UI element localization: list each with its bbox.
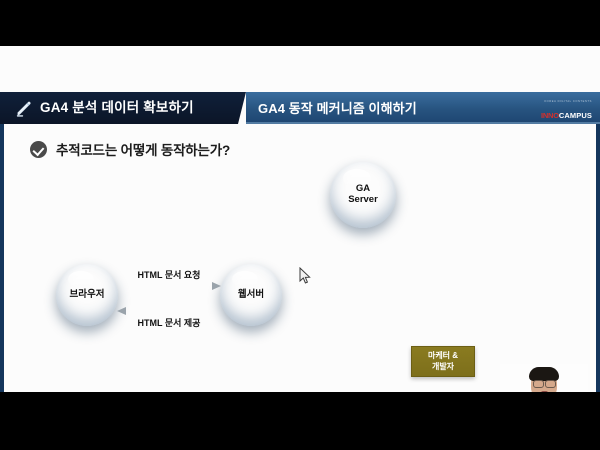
arrow-provide-left: [118, 308, 220, 315]
diagram-node-browser: 브라우저: [56, 264, 118, 326]
brand-name-red: INNO: [541, 111, 559, 120]
arrow-label-request: HTML 문서 요청: [118, 268, 220, 281]
arrow-head: [212, 282, 221, 290]
check-circle-icon: [30, 141, 47, 158]
arrow-label-provide: HTML 문서 제공: [118, 316, 220, 329]
marketer-developer-box: 마케터 &개발자: [411, 346, 475, 377]
node-browser-label: 브라우저: [70, 290, 105, 301]
brand-tagline: KOREA DIGITAL CONTENTS: [541, 101, 592, 104]
presenter-video-overlay: [500, 364, 588, 392]
presenter-glasses-left: [533, 380, 544, 388]
diagram-node-web-server: 웹서버: [220, 264, 282, 326]
slide-title: 추적코드는 어떻게 동작하는가?: [30, 138, 230, 160]
presenter-hair: [529, 367, 559, 381]
brand-name-white: CAMPUS: [559, 111, 592, 120]
header-left-title: GA4 분석 데이터 확보하기: [40, 92, 194, 124]
slide-header: GA4 분석 데이터 확보하기 GA4 동작 메커니즘 이해하기 KOREA D…: [0, 92, 600, 124]
header-right-title: GA4 동작 메커니즘 이해하기: [258, 92, 417, 124]
diagram-node-ga-server: GAServer: [330, 162, 396, 228]
slide-border-right: [596, 124, 600, 392]
node-web-server-label: 웹서버: [238, 290, 264, 301]
arrow-request-right: [118, 283, 220, 290]
presenter-mouth: [541, 391, 548, 392]
marketer-developer-label: 마케터 &개발자: [428, 351, 458, 372]
arrow-head: [117, 307, 126, 315]
mouse-cursor: [299, 267, 311, 285]
screen: GA4 분석 데이터 확보하기 GA4 동작 메커니즘 이해하기 KOREA D…: [0, 0, 600, 450]
presenter-glasses-right: [545, 380, 556, 388]
pencil-icon: [14, 99, 34, 119]
slide-border-left: [0, 124, 4, 392]
brand-name: INNOCAMPUS: [541, 106, 592, 122]
slide-canvas: GA4 분석 데이터 확보하기 GA4 동작 메커니즘 이해하기 KOREA D…: [0, 46, 600, 392]
node-ga-server-label: GAServer: [348, 184, 378, 206]
brand-logo: KOREA DIGITAL CONTENTS INNOCAMPUS: [541, 101, 592, 122]
slide-title-text: 추적코드는 어떻게 동작하는가?: [56, 139, 230, 159]
